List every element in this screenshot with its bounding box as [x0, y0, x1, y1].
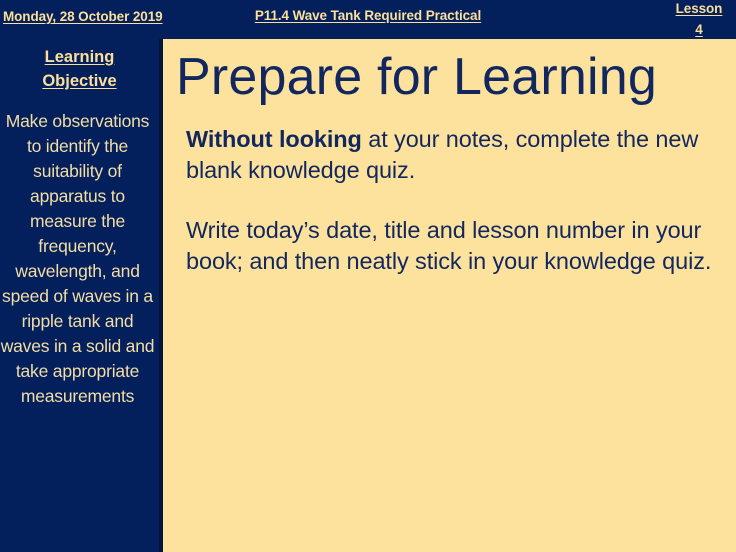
main-content: Prepare for Learning Without looking at …: [167, 39, 736, 552]
header-title: P11.4 Wave Tank Required Practical: [0, 8, 736, 23]
header-lesson-number: 4: [670, 19, 728, 40]
learning-objective-text: Make observations to identify the suitab…: [0, 109, 159, 409]
header-title-text: P11.4 Wave Tank Required Practical: [255, 8, 481, 23]
instruction-paragraph-1: Without looking at your notes, complete …: [186, 124, 736, 185]
instruction-paragraph-2: Write today’s date, title and lesson num…: [186, 215, 736, 276]
learning-objective-heading-line1: Learning: [45, 48, 115, 66]
learning-objective-heading-line2: Objective: [42, 72, 116, 90]
learning-objective-heading: Learning Objective: [12, 45, 147, 93]
learning-objective-panel: Learning Objective Make observations to …: [0, 39, 163, 552]
header-lesson: Lesson 4: [670, 0, 728, 40]
page-title: Prepare for Learning: [176, 45, 736, 109]
header-bar: Monday, 28 October 2019 P11.4 Wave Tank …: [0, 0, 736, 39]
slide: Monday, 28 October 2019 P11.4 Wave Tank …: [0, 0, 736, 552]
instruction-emphasis: Without looking: [186, 126, 362, 152]
header-lesson-label: Lesson: [670, 0, 728, 19]
